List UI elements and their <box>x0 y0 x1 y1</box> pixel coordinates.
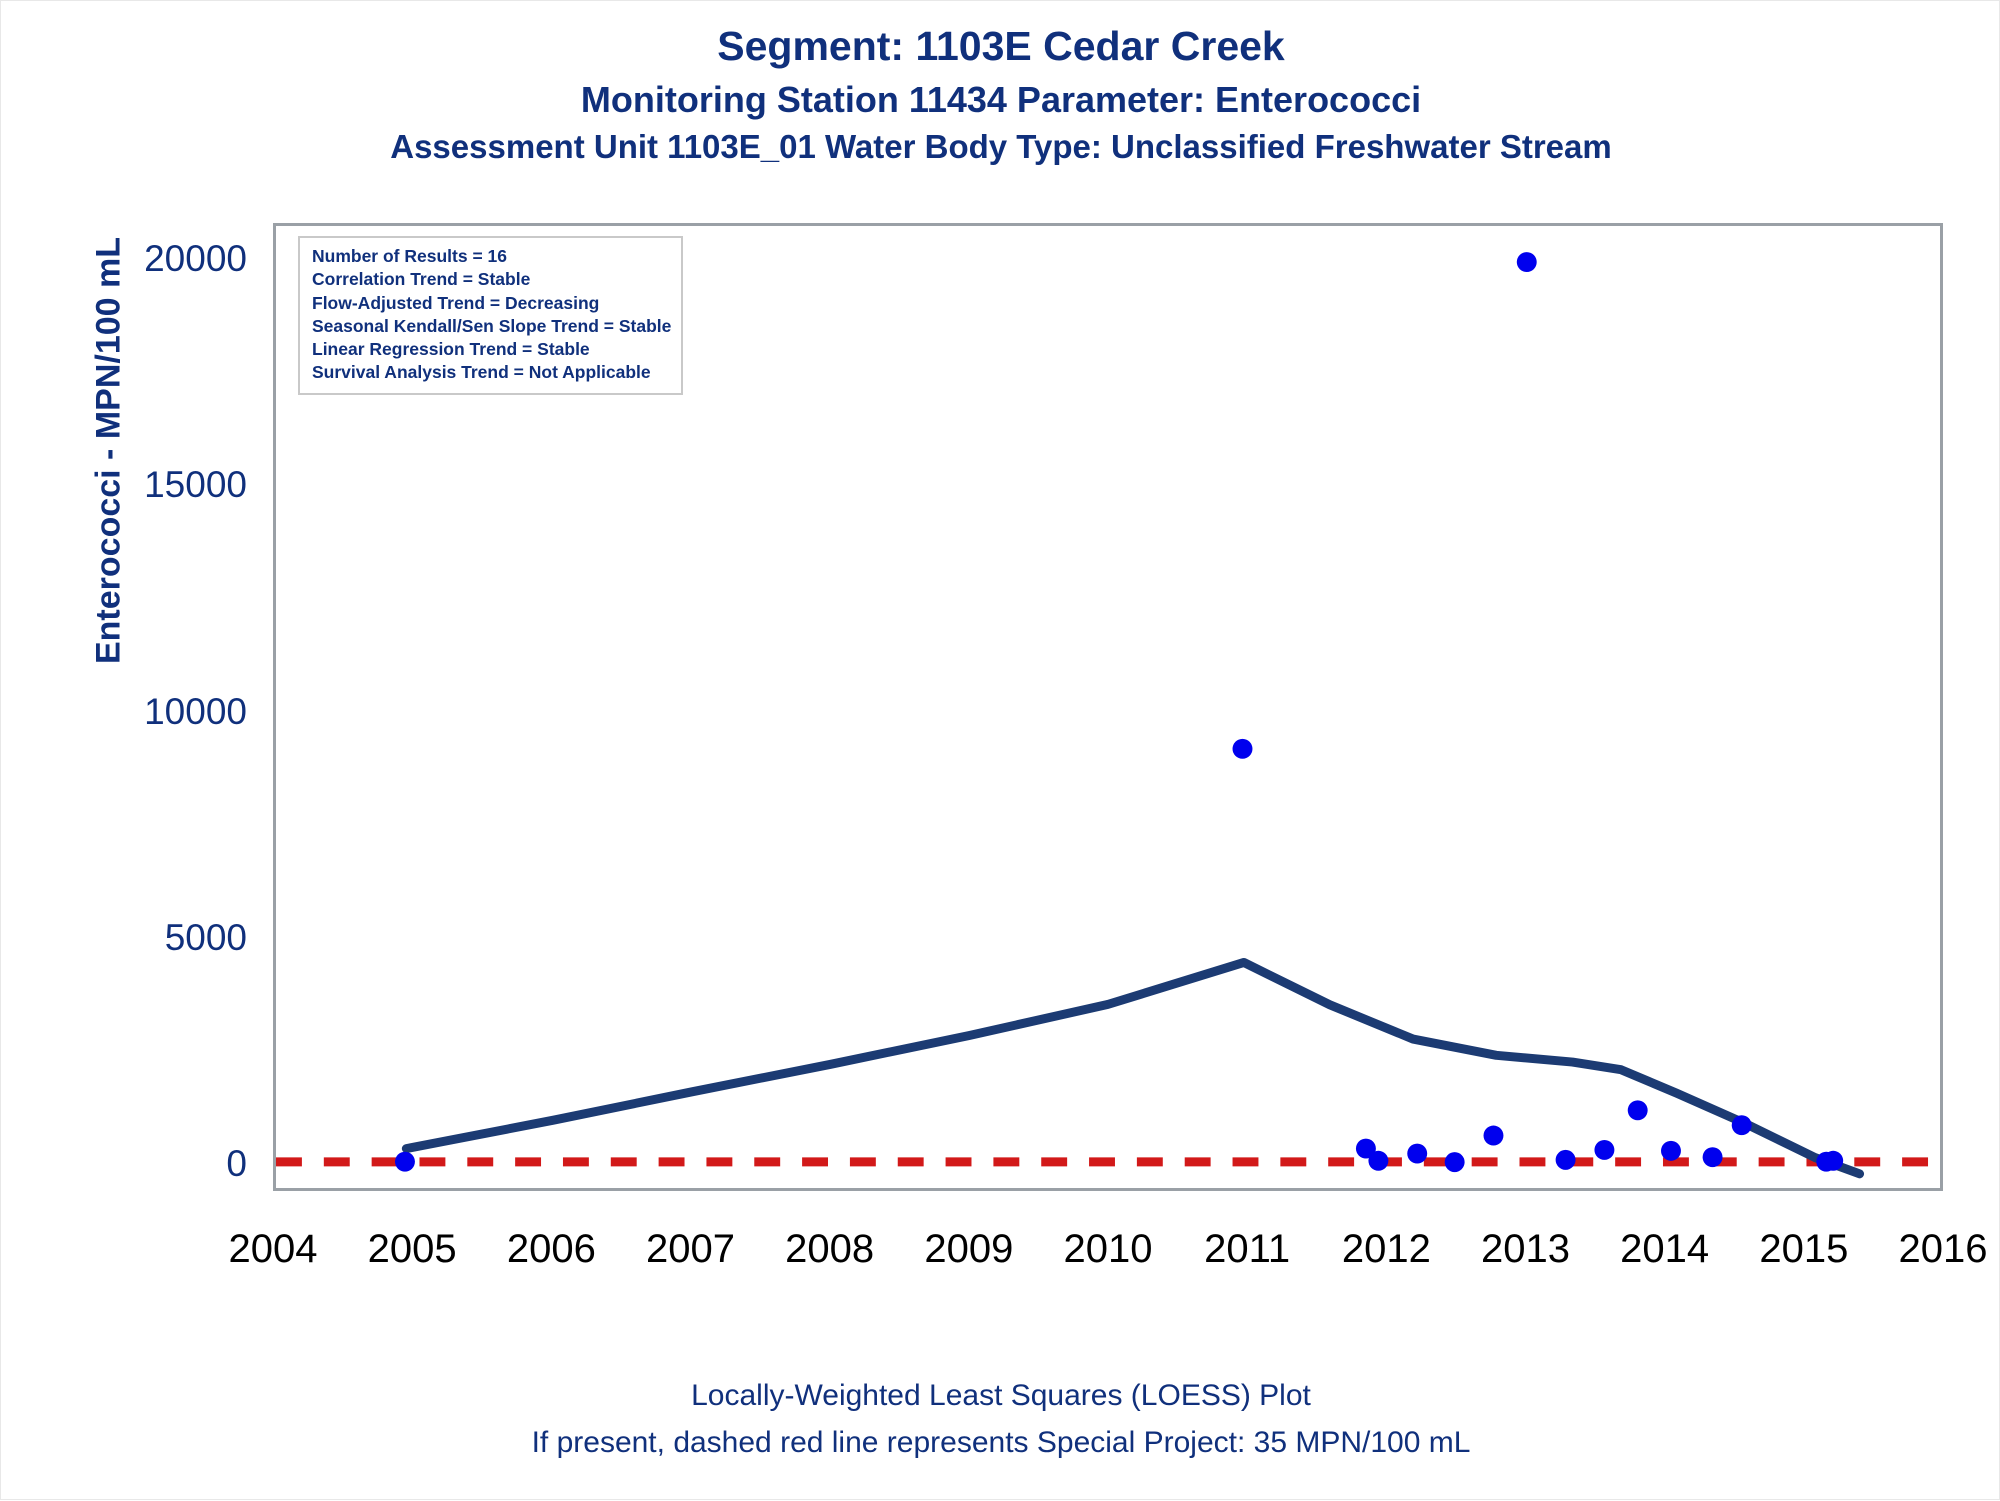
data-point <box>1594 1140 1614 1160</box>
footer-reference-line-note: If present, dashed red line represents S… <box>1 1426 2000 1460</box>
annotation-correlation-trend: Correlation Trend = Stable <box>312 268 671 291</box>
data-point <box>1661 1141 1681 1161</box>
data-point <box>1732 1115 1752 1135</box>
x-axis-tick-label: 2009 <box>924 1227 1013 1272</box>
statistics-annotation-box: Number of Results = 16 Correlation Trend… <box>298 236 683 395</box>
chart-title-block: Segment: 1103E Cedar Creek Monitoring St… <box>1 23 2000 167</box>
annotation-seasonal-kendall-trend: Seasonal Kendall/Sen Slope Trend = Stabl… <box>312 315 671 338</box>
loess-trend-line <box>406 962 1859 1173</box>
footer-plot-type: Locally-Weighted Least Squares (LOESS) P… <box>1 1379 2000 1413</box>
x-axis-tick-label: 2014 <box>1620 1227 1709 1272</box>
data-point <box>1628 1100 1648 1120</box>
chart-page: Segment: 1103E Cedar Creek Monitoring St… <box>0 0 2000 1500</box>
x-axis-tick-label: 2004 <box>229 1227 318 1272</box>
y-axis-tick-label: 5000 <box>1 917 247 959</box>
annotation-flow-adjusted-trend: Flow-Adjusted Trend = Decreasing <box>312 292 671 315</box>
data-point <box>1407 1144 1427 1164</box>
chart-subtitle-station: Monitoring Station 11434 Parameter: Ente… <box>1 79 2000 121</box>
plot-area[interactable]: Number of Results = 16 Correlation Trend… <box>273 223 1943 1191</box>
x-axis-tick-label: 2007 <box>646 1227 735 1272</box>
data-point <box>1517 252 1537 272</box>
x-axis-tick-label: 2005 <box>368 1227 457 1272</box>
data-point <box>1368 1151 1388 1171</box>
x-axis-tick-label: 2011 <box>1204 1227 1290 1272</box>
x-axis-tick-label: 2012 <box>1342 1227 1431 1272</box>
data-point <box>395 1152 415 1172</box>
data-point <box>1445 1152 1465 1172</box>
page-title: Segment: 1103E Cedar Creek <box>1 23 2000 71</box>
data-point <box>1484 1126 1504 1146</box>
data-point <box>1823 1151 1843 1171</box>
chart-subtitle-assessment-unit: Assessment Unit 1103E_01 Water Body Type… <box>1 128 2000 166</box>
data-point <box>1233 739 1253 759</box>
annotation-survival-analysis-trend: Survival Analysis Trend = Not Applicable <box>312 361 671 384</box>
annotation-linear-regression-trend: Linear Regression Trend = Stable <box>312 338 671 361</box>
x-axis-tick-label: 2010 <box>1064 1227 1153 1272</box>
y-axis-label: Enterococci - MPN/100 mL <box>90 131 129 771</box>
x-axis-tick-label: 2015 <box>1759 1227 1848 1272</box>
x-axis-tick-label: 2013 <box>1481 1227 1570 1272</box>
y-axis-tick-label: 0 <box>1 1143 247 1185</box>
x-axis-tick-label: 2008 <box>785 1227 874 1272</box>
data-point <box>1703 1147 1723 1167</box>
annotation-number-of-results: Number of Results = 16 <box>312 245 671 268</box>
x-axis-tick-label: 2016 <box>1899 1227 1988 1272</box>
data-point <box>1556 1150 1576 1170</box>
x-axis-tick-label: 2006 <box>507 1227 596 1272</box>
